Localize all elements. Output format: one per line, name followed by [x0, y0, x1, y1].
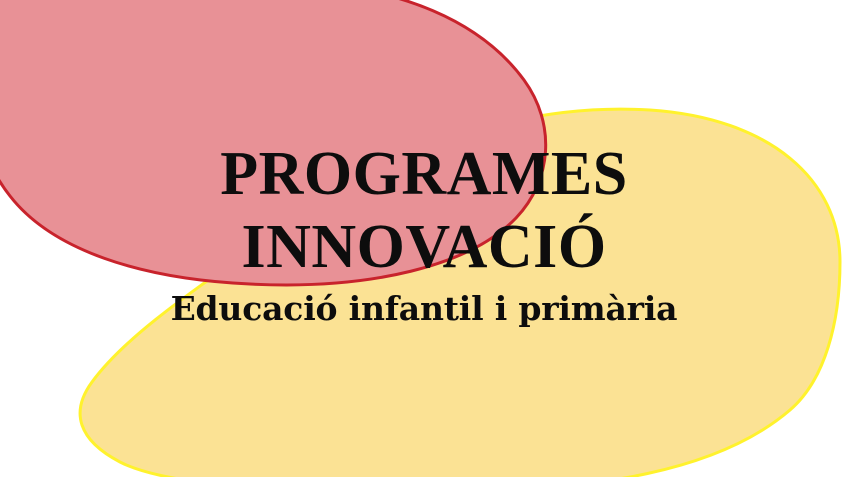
slide-canvas: PROGRAMES INNOVACIÓ Educació infantil i …: [0, 0, 848, 477]
page-title-line-1: PROGRAMES: [0, 143, 848, 205]
page-title-line-2: INNOVACIÓ: [0, 216, 848, 278]
page-subtitle: Educació infantil i primària: [0, 292, 848, 325]
slide-text-layer: PROGRAMES INNOVACIÓ Educació infantil i …: [0, 0, 848, 477]
